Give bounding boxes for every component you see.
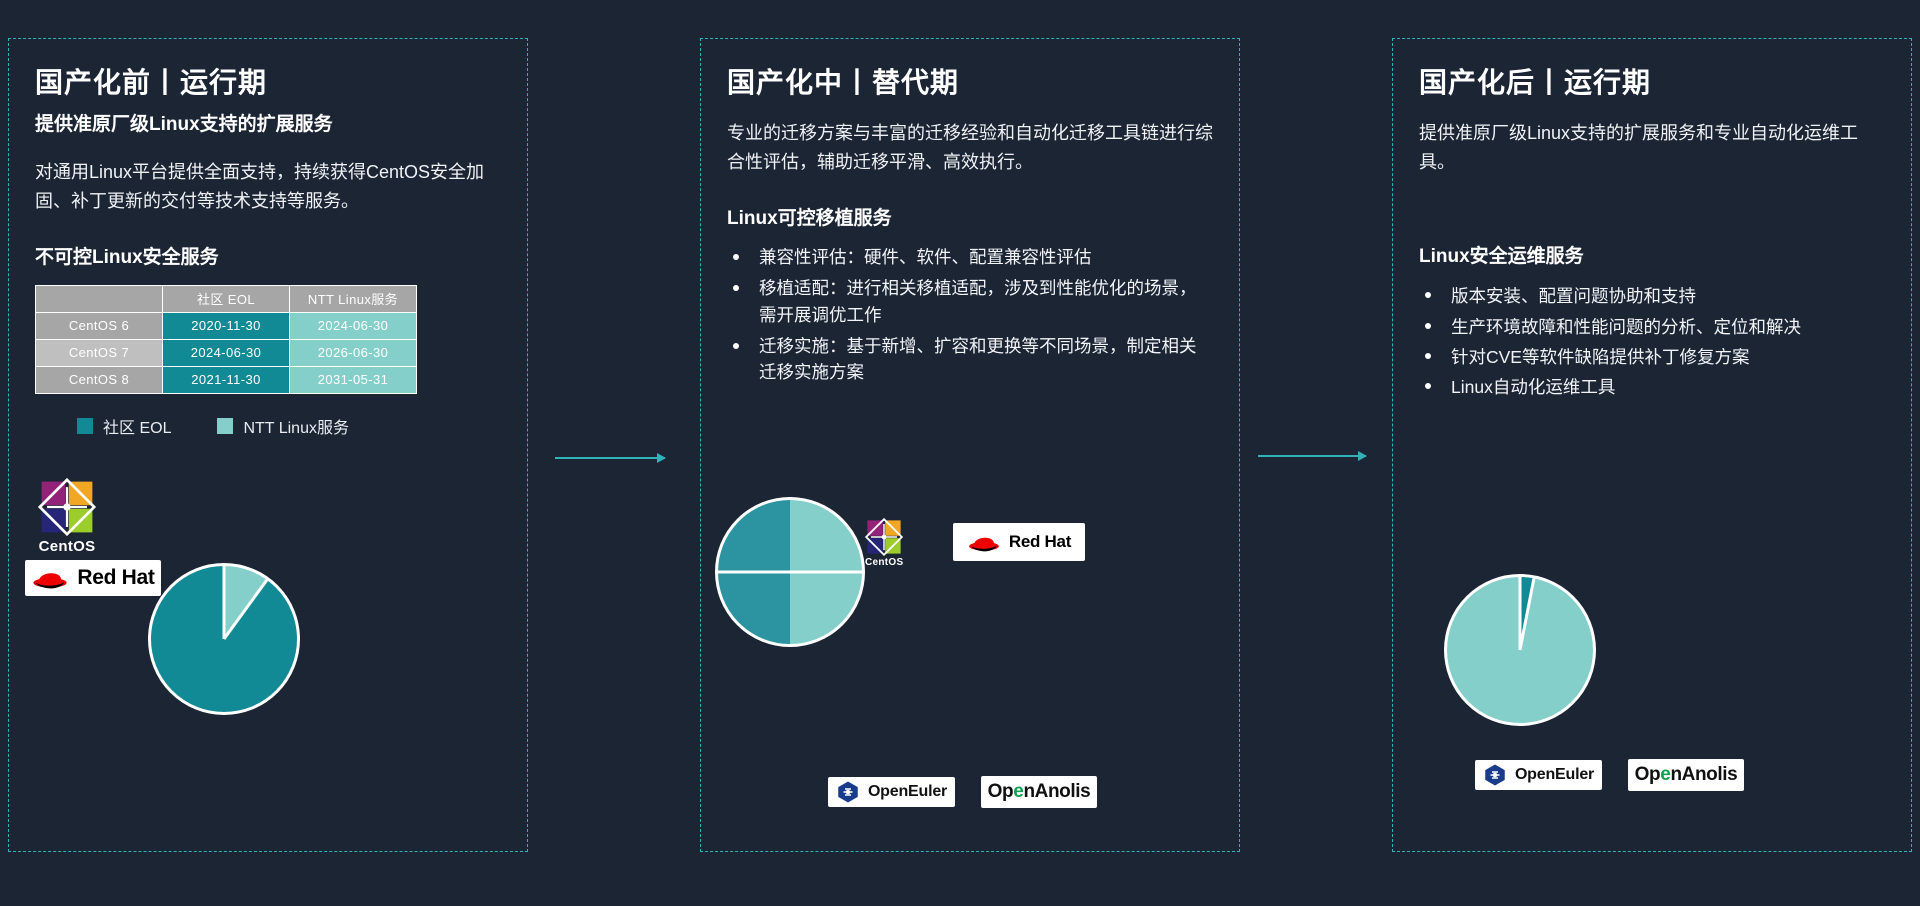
openanolis-logo: OpenAnolis bbox=[1628, 759, 1744, 791]
centos-eol-table: 社区 EOL NTT Linux服务 CentOS 6 2020-11-30 2… bbox=[35, 285, 417, 394]
panel-title-before: 国产化前丨运行期 bbox=[35, 61, 501, 101]
list-item: 兼容性评估：硬件、软件、配置兼容性评估 bbox=[727, 244, 1213, 271]
pie-legend-before: 社区 EOL NTT Linux服务 bbox=[77, 414, 501, 438]
list-item: 移植适配：进行相关移植适配，涉及到性能优化的场景，需开展调优工作 bbox=[727, 275, 1213, 329]
redhat-logo: Red Hat bbox=[25, 560, 161, 596]
legend-swatch-icon bbox=[217, 418, 233, 434]
redhat-fedora-icon bbox=[967, 530, 1001, 554]
legend-label: 社区 EOL bbox=[103, 414, 171, 438]
table-row: CentOS 7 2024-06-30 2026-06-30 bbox=[36, 339, 417, 366]
section-head-after: Linux安全运维服务 bbox=[1419, 241, 1885, 268]
centos-label: CentOS bbox=[39, 538, 96, 555]
panel-during-migration: 国产化中丨替代期 专业的迁移方案与丰富的迁移经验和自动化迁移工具链进行综合性评估… bbox=[700, 38, 1240, 852]
panel-description-after: 提供准原厂级Linux支持的扩展服务和专业自动化运维工具。 bbox=[1419, 119, 1885, 177]
openeuler-label: OpenEuler bbox=[868, 783, 947, 801]
pie-separator bbox=[223, 566, 226, 639]
table-header-row: 社区 EOL NTT Linux服务 bbox=[36, 285, 417, 312]
table-cell-eol: 2021-11-30 bbox=[163, 366, 290, 393]
arrow-before-to-during bbox=[555, 457, 665, 459]
bullet-dot-icon bbox=[733, 343, 739, 349]
table-row: CentOS 8 2021-11-30 2031-05-31 bbox=[36, 366, 417, 393]
table-cell-eol: 2020-11-30 bbox=[163, 312, 290, 339]
legend-item-community-eol: 社区 EOL bbox=[77, 414, 171, 438]
openeuler-logo: OpenEuler bbox=[1475, 760, 1602, 790]
list-item: Linux自动化运维工具 bbox=[1419, 373, 1885, 401]
bullet-dot-icon bbox=[733, 254, 739, 260]
panel-subtitle-before: 提供准原厂级Linux支持的扩展服务 bbox=[35, 111, 501, 140]
bullet-dot-icon bbox=[1425, 353, 1431, 359]
table-cell-ntt: 2024-06-30 bbox=[290, 312, 417, 339]
table-cell-os: CentOS 7 bbox=[36, 339, 163, 366]
panel-description-during: 专业的迁移方案与丰富的迁移经验和自动化迁移工具链进行综合性评估，辅助迁移平滑、高… bbox=[727, 119, 1213, 177]
bullet-dot-icon bbox=[733, 285, 739, 291]
bullet-dot-icon bbox=[1425, 323, 1431, 329]
legend-swatch-icon bbox=[77, 418, 93, 434]
table-cell-ntt: 2031-05-31 bbox=[290, 366, 417, 393]
arrow-head-icon bbox=[657, 453, 666, 463]
centos-logo: CentOS bbox=[38, 478, 96, 555]
list-item-text: 针对CVE等软件缺陷提供补丁修复方案 bbox=[1451, 347, 1749, 367]
redhat-label: Red Hat bbox=[77, 566, 154, 590]
list-item: 版本安装、配置问题协助和支持 bbox=[1419, 282, 1885, 310]
table-row: CentOS 6 2020-11-30 2024-06-30 bbox=[36, 312, 417, 339]
list-item-text: Linux自动化运维工具 bbox=[1451, 377, 1615, 397]
section-head-before: 不可控Linux安全服务 bbox=[35, 242, 501, 269]
arrow-during-to-after bbox=[1258, 455, 1366, 457]
migration-phase-board: 国产化前丨运行期 提供准原厂级Linux支持的扩展服务 对通用Linux平台提供… bbox=[0, 0, 1920, 906]
centos-icon bbox=[865, 518, 903, 556]
list-item-text: 移植适配：进行相关移植适配，涉及到性能优化的场景，需开展调优工作 bbox=[759, 278, 1197, 325]
list-item-text: 生产环境故障和性能问题的分析、定位和解决 bbox=[1451, 317, 1801, 337]
list-item: 针对CVE等软件缺陷提供补丁修复方案 bbox=[1419, 343, 1885, 371]
list-item-text: 兼容性评估：硬件、软件、配置兼容性评估 bbox=[759, 247, 1092, 267]
centos-icon bbox=[38, 478, 96, 536]
legend-item-ntt-service: NTT Linux服务 bbox=[217, 414, 349, 438]
bullet-list-during: 兼容性评估：硬件、软件、配置兼容性评估 移植适配：进行相关移植适配，涉及到性能优… bbox=[727, 244, 1213, 386]
list-item: 生产环境故障和性能问题的分析、定位和解决 bbox=[1419, 313, 1885, 341]
openeuler-logo: OpenEuler bbox=[828, 777, 955, 807]
pie-separator bbox=[223, 579, 268, 640]
panel-before-migration: 国产化前丨运行期 提供准原厂级Linux支持的扩展服务 对通用Linux平台提供… bbox=[8, 38, 528, 852]
list-item-text: 版本安装、配置问题协助和支持 bbox=[1451, 286, 1696, 306]
panel-after-migration: 国产化后丨运行期 提供准原厂级Linux支持的扩展服务和专业自动化运维工具。 L… bbox=[1392, 38, 1912, 852]
openanolis-label: OpenAnolis bbox=[988, 781, 1091, 803]
openanolis-label: OpenAnolis bbox=[1635, 764, 1738, 786]
pie-chart-during bbox=[715, 497, 865, 647]
panel-title-after: 国产化后丨运行期 bbox=[1419, 61, 1885, 101]
table-header-community-eol: 社区 EOL bbox=[163, 285, 290, 312]
table-header-ntt-service: NTT Linux服务 bbox=[290, 285, 417, 312]
openeuler-icon bbox=[836, 780, 860, 804]
openeuler-icon bbox=[1483, 763, 1507, 787]
table-cell-os: CentOS 8 bbox=[36, 366, 163, 393]
redhat-logo: Red Hat bbox=[953, 523, 1085, 561]
centos-logo: CentOS bbox=[865, 518, 903, 568]
centos-label: CentOS bbox=[865, 557, 903, 568]
table-cell-ntt: 2026-06-30 bbox=[290, 339, 417, 366]
pie-separator bbox=[718, 571, 862, 574]
redhat-fedora-icon bbox=[31, 565, 69, 591]
list-item: 迁移实施：基于新增、扩容和更换等不同场景，制定相关迁移实施方案 bbox=[727, 333, 1213, 387]
section-head-during: Linux可控移植服务 bbox=[727, 203, 1213, 230]
openeuler-label: OpenEuler bbox=[1515, 766, 1594, 784]
legend-label: NTT Linux服务 bbox=[243, 414, 349, 438]
pie-chart-before bbox=[148, 563, 300, 715]
list-item-text: 迁移实施：基于新增、扩容和更换等不同场景，制定相关迁移实施方案 bbox=[759, 336, 1197, 383]
table-cell-eol: 2024-06-30 bbox=[163, 339, 290, 366]
bullet-list-after: 版本安装、配置问题协助和支持 生产环境故障和性能问题的分析、定位和解决 针对CV… bbox=[1419, 282, 1885, 401]
table-cell-os: CentOS 6 bbox=[36, 312, 163, 339]
panel-description-before: 对通用Linux平台提供全面支持，持续获得CentOS安全加固、补丁更新的交付等… bbox=[35, 158, 501, 216]
pie-chart-after bbox=[1444, 574, 1596, 726]
arrow-head-icon bbox=[1358, 451, 1367, 461]
redhat-label: Red Hat bbox=[1009, 532, 1071, 552]
bullet-dot-icon bbox=[1425, 292, 1431, 298]
openanolis-logo: OpenAnolis bbox=[981, 776, 1097, 808]
bullet-dot-icon bbox=[1425, 383, 1431, 389]
panel-title-during: 国产化中丨替代期 bbox=[727, 61, 1213, 101]
table-header-blank bbox=[36, 285, 163, 312]
